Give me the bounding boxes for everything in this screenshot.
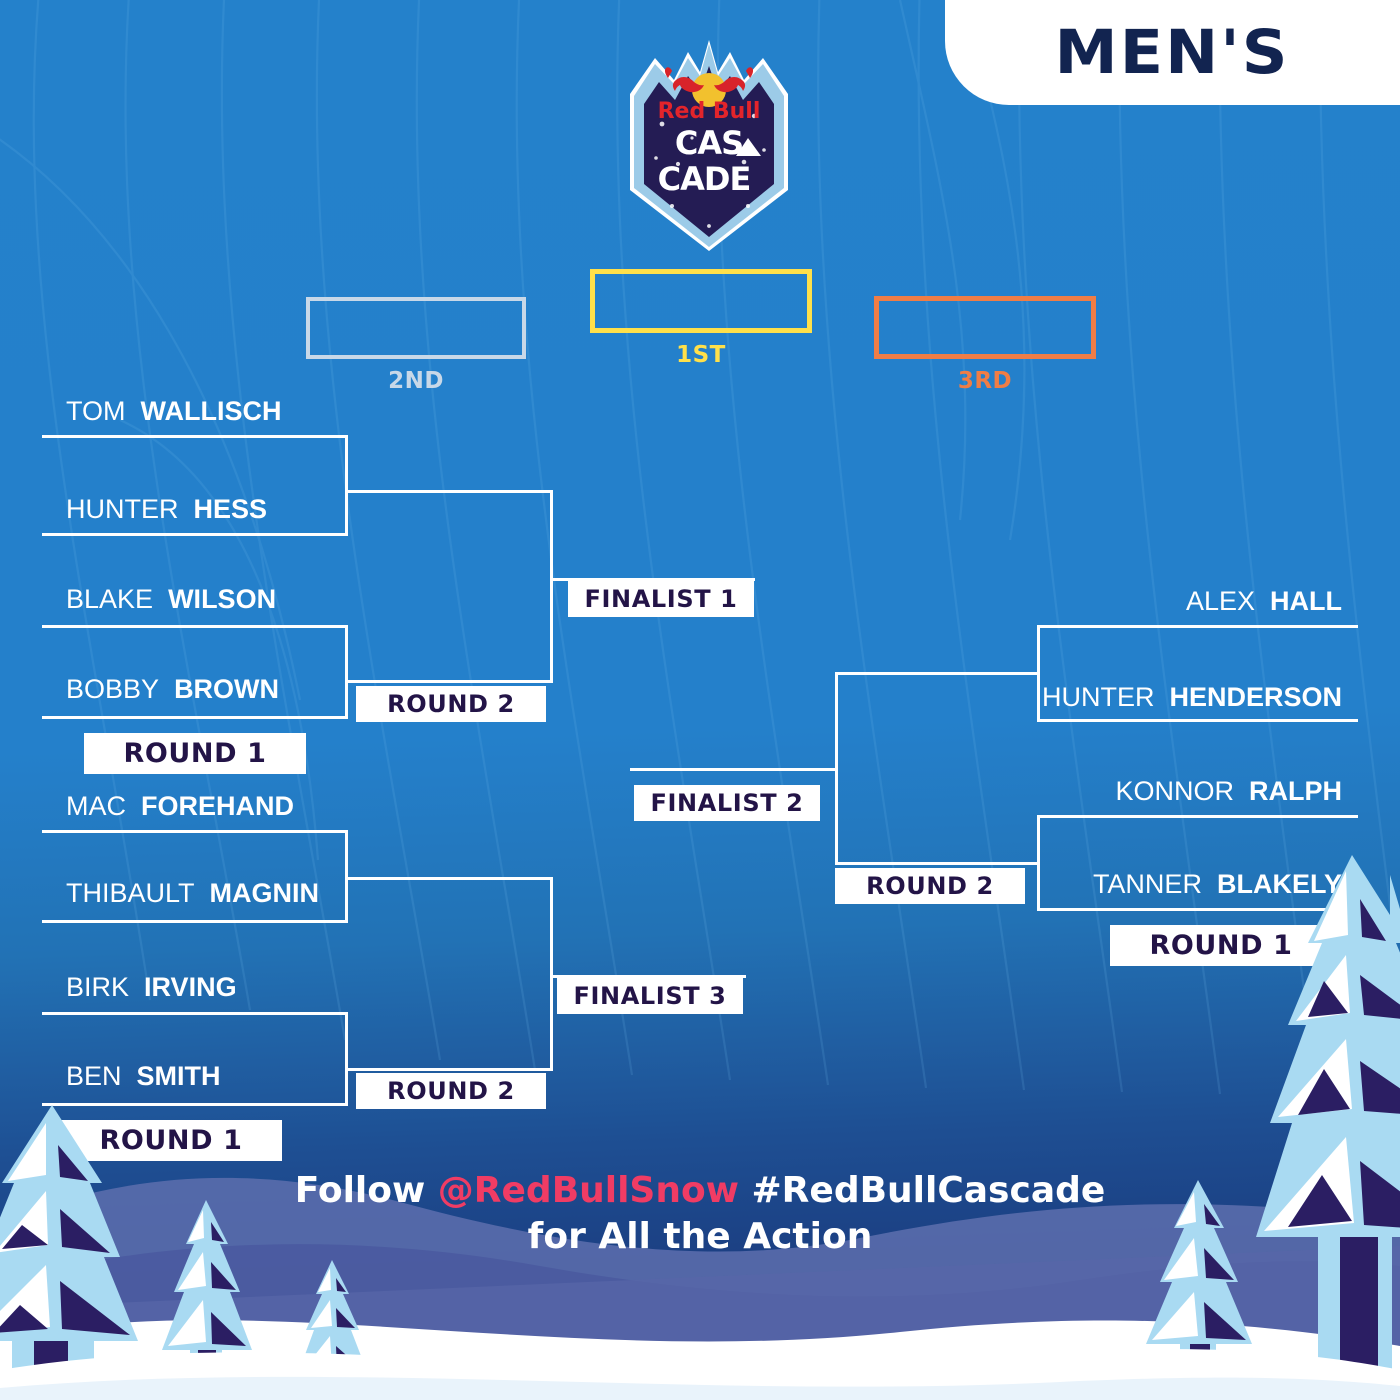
first-place-label: 1ST [590,342,812,368]
competitor-name: MAC FOREHAND [66,793,294,820]
second-place-label: 2ND [306,368,526,394]
follow-line-1: Follow @RedBullSnow #RedBullCascade [0,1168,1400,1214]
competitor-name: BOBBY BROWN [66,676,279,703]
bracket-line [42,716,348,719]
competitor-name: HUNTER HENDERSON [1042,684,1342,711]
bracket-line [345,680,553,683]
bracket-line [345,490,553,493]
bracket-line [345,877,553,880]
second-place-box[interactable] [306,297,526,359]
bracket-line [42,435,348,438]
follow-line-2: for All the Action [0,1214,1400,1260]
bracket-line [1037,625,1358,628]
bracket-line [345,435,348,536]
gender-title-panel: MEN'S [945,0,1400,105]
first-place-box[interactable] [590,269,812,333]
bracket-line [550,877,553,1071]
round-1-label: ROUND 1 [84,733,306,774]
third-place-label: 3RD [874,368,1096,394]
bracket-line [42,830,348,833]
competitor-name: THIBAULT MAGNIN [66,880,319,907]
bracket-line [1037,815,1358,818]
competitor-name: TOM WALLISCH [66,398,282,425]
bracket-line [345,625,348,719]
svg-text:CAS: CAS [675,124,743,162]
bracket-line [630,768,838,771]
red-bull-cascade-logo: Red Bull CAS CADE [626,38,792,253]
competitor-name: BLAKE WILSON [66,586,276,613]
social-handle[interactable]: @RedBullSnow [438,1170,739,1211]
bracket-line [835,862,1040,865]
hashtag[interactable]: #RedBullCascade [739,1170,1105,1211]
bracket-line [42,920,348,923]
finalist-3-label: FINALIST 3 [557,978,743,1014]
round-2-label: ROUND 2 [356,686,546,722]
competitor-name: ALEX HALL [1186,588,1342,615]
svg-text:Red Bull: Red Bull [658,99,761,124]
bracket-line [42,625,348,628]
bracket-line [1037,719,1358,722]
social-follow-text: Follow @RedBullSnow #RedBullCascade for … [0,1168,1400,1260]
follow-prefix: Follow [295,1170,438,1211]
page-title: MEN'S [1055,22,1290,83]
bracket-line [42,533,348,536]
finalist-1-label: FINALIST 1 [568,581,754,617]
round-2-label: ROUND 2 [835,868,1025,904]
finalist-2-label: FINALIST 2 [634,785,820,821]
competitor-name: KONNOR RALPH [1115,778,1342,805]
bracket-poster: MEN'S [0,0,1400,1400]
competitor-name: BIRK IRVING [66,974,237,1001]
competitor-name: HUNTER HESS [66,496,267,523]
bracket-line [42,1012,348,1015]
bracket-line [835,672,1040,675]
third-place-box[interactable] [874,296,1096,359]
bracket-line [550,490,553,683]
svg-text:CADE: CADE [658,160,751,198]
